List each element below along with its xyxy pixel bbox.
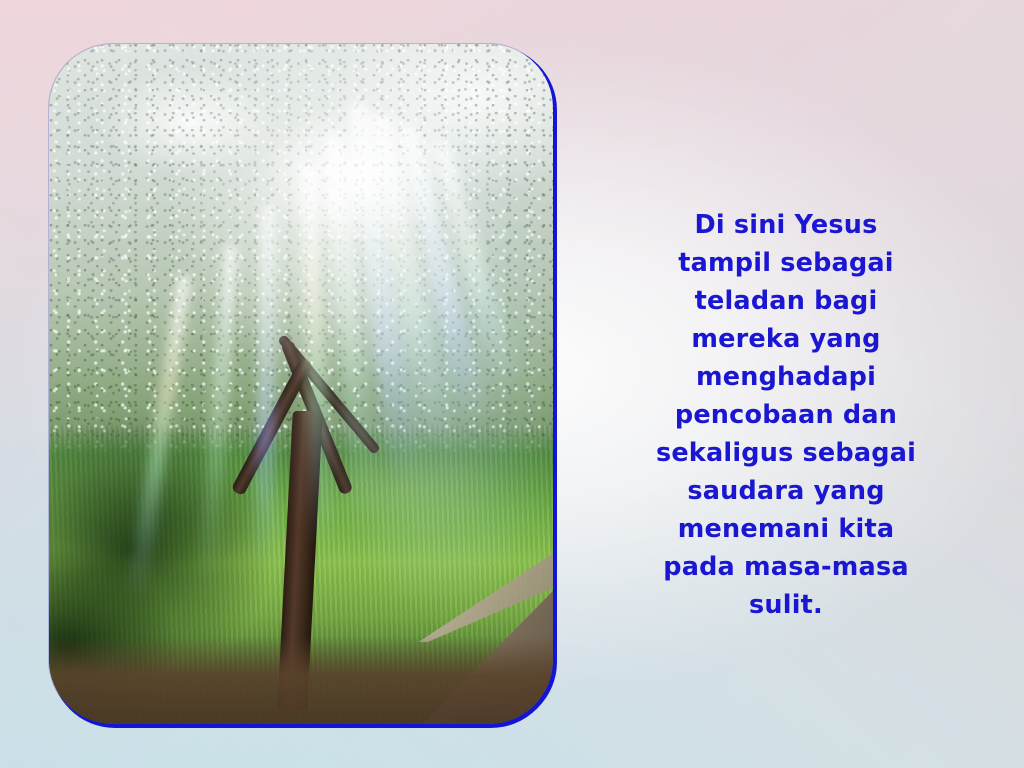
caption-text: Di sini Yesus tampil sebagai teladan bag… — [650, 206, 922, 624]
photo-frame[interactable] — [49, 44, 553, 724]
tree-photo — [49, 44, 553, 724]
highlight-wash — [49, 44, 553, 724]
slide: Di sini Yesus tampil sebagai teladan bag… — [0, 0, 1024, 768]
